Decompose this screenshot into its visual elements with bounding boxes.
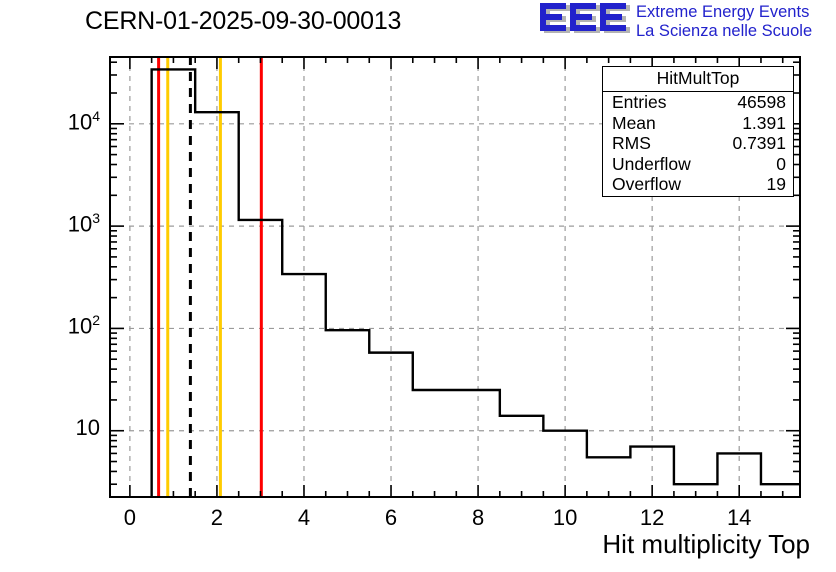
y-tick-label: 104 bbox=[68, 108, 100, 135]
x-tick-label: 2 bbox=[177, 505, 257, 531]
stats-row-value: 1.391 bbox=[742, 114, 786, 134]
x-tick-label: 6 bbox=[351, 505, 431, 531]
stats-row: Overflow19 bbox=[603, 174, 793, 195]
stats-row-key: Overflow bbox=[612, 175, 681, 195]
y-tick-label: 103 bbox=[68, 210, 100, 237]
stats-row-value: 46598 bbox=[737, 93, 786, 113]
root-canvas: CERN-01-2025-09-30-00013 Extreme Energy … bbox=[0, 0, 836, 572]
x-tick-label: 12 bbox=[612, 505, 692, 531]
x-tick-label: 4 bbox=[264, 505, 344, 531]
stats-row-value: 0 bbox=[776, 155, 786, 175]
stats-row: Mean1.391 bbox=[603, 113, 793, 134]
x-tick-label: 14 bbox=[699, 505, 779, 531]
x-tick-label: 8 bbox=[438, 505, 518, 531]
y-tick-label: 102 bbox=[68, 312, 100, 339]
x-axis-title: Hit multiplicity Top bbox=[602, 529, 810, 560]
stats-row-key: RMS bbox=[612, 134, 651, 154]
stats-box-rows: Entries46598Mean1.391RMS0.7391Underflow0… bbox=[603, 92, 793, 195]
stats-box-title: HitMultTop bbox=[603, 67, 793, 92]
stats-row: Underflow0 bbox=[603, 154, 793, 175]
y-tick-label: 10 bbox=[76, 415, 100, 441]
stats-row: RMS0.7391 bbox=[603, 133, 793, 154]
stats-row-key: Mean bbox=[612, 114, 656, 134]
stats-row-key: Entries bbox=[612, 93, 666, 113]
x-tick-label: 0 bbox=[90, 505, 170, 531]
x-tick-label: 10 bbox=[525, 505, 605, 531]
stats-row-value: 19 bbox=[767, 175, 786, 195]
stats-row-key: Underflow bbox=[612, 155, 691, 175]
stats-row-value: 0.7391 bbox=[732, 134, 786, 154]
stats-box: HitMultTop Entries46598Mean1.391RMS0.739… bbox=[602, 66, 794, 197]
stats-row: Entries46598 bbox=[603, 92, 793, 113]
